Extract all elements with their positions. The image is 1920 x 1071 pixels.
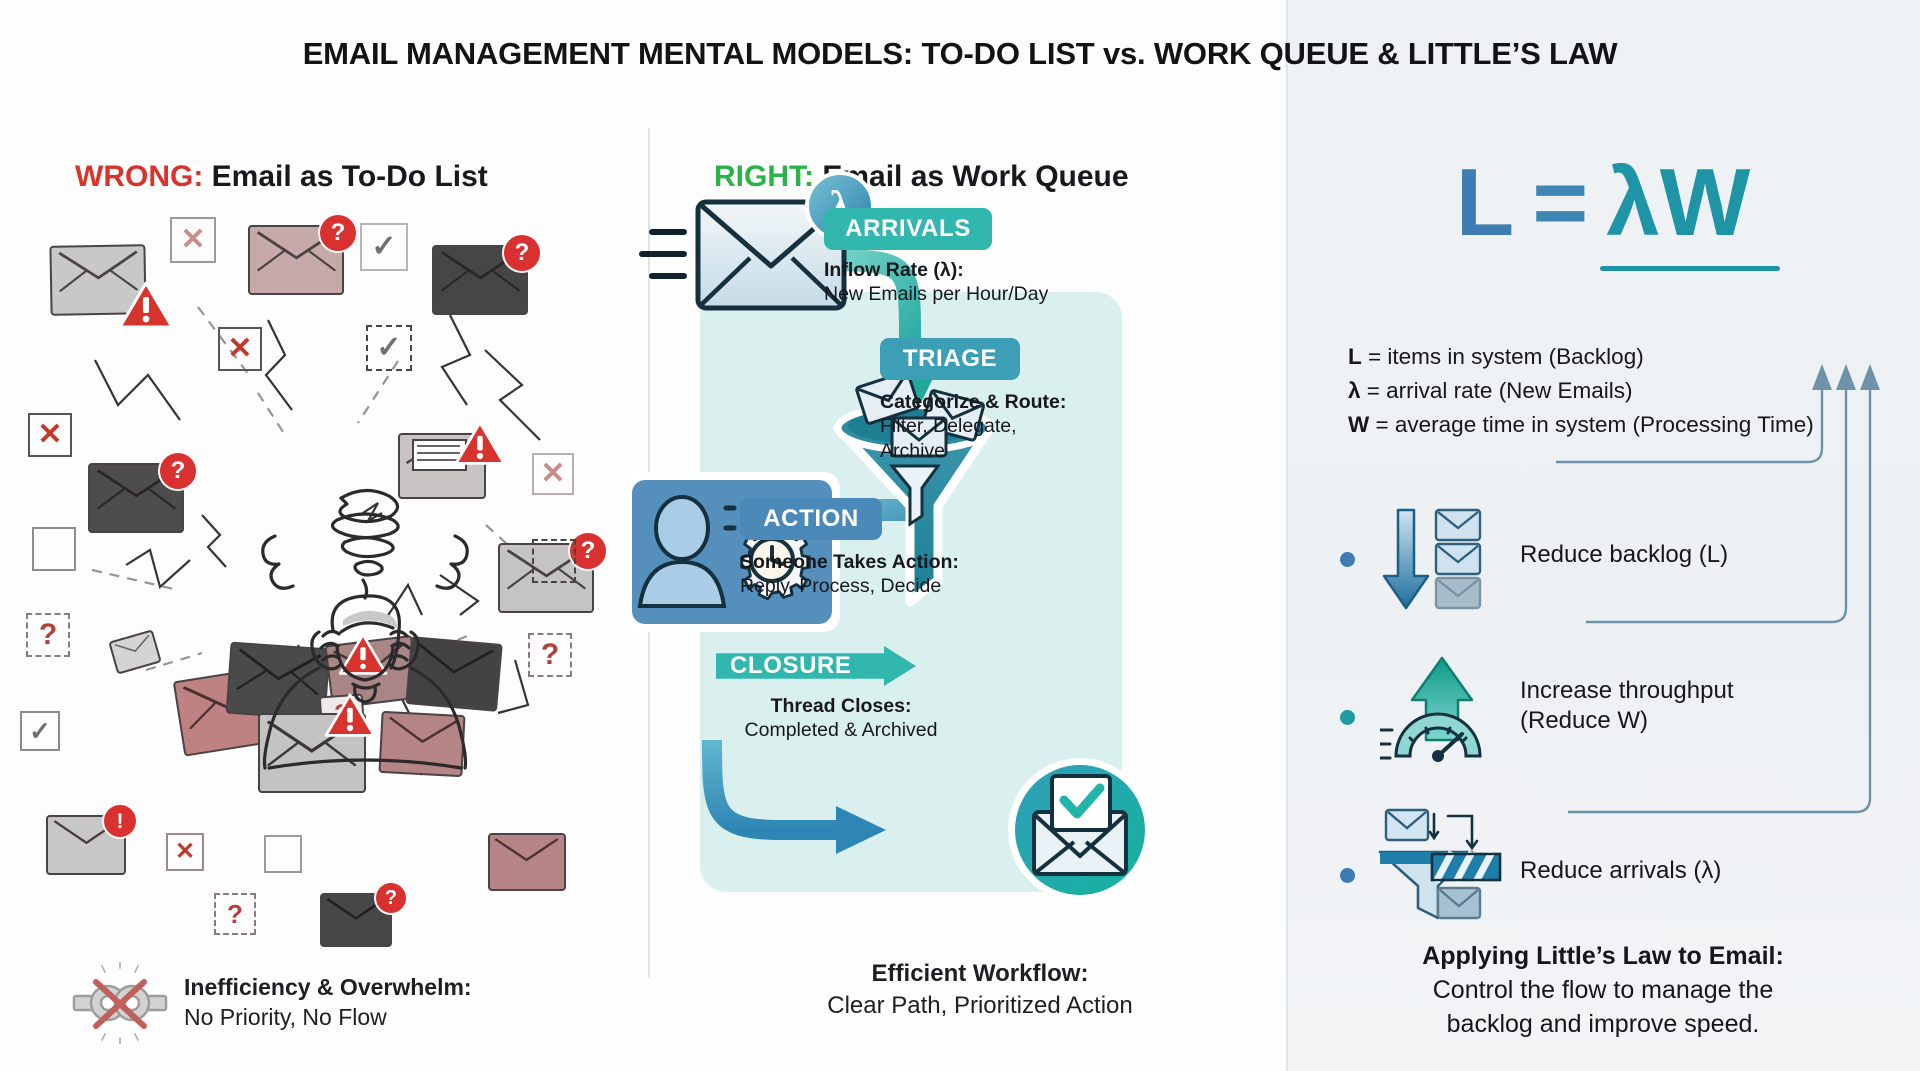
caption-action-body: Reply, Process, Decide xyxy=(740,574,1010,598)
x-checkbox: ✕ xyxy=(28,413,72,457)
tag-closure-label: CLOSURE xyxy=(730,652,852,680)
mid-panel-footer: Efficient Workflow: Clear Path, Prioriti… xyxy=(700,958,1260,1023)
left-footer-text: Inefficiency & Overwhelm: No Priority, N… xyxy=(184,973,472,1033)
caption-arrivals: Inflow Rate (λ): New Emails per Hour/Day xyxy=(824,258,1084,307)
caption-arrivals-body: New Emails per Hour/Day xyxy=(824,282,1084,306)
bullet-text-reduce-backlog: Reduce backlog (L) xyxy=(1520,540,1728,570)
bullet-line-1: Increase throughput xyxy=(1520,676,1733,706)
caption-closure: Thread Closes: Completed & Archived xyxy=(716,694,966,743)
caption-action: Someone Takes Action: Reply, Process, De… xyxy=(740,550,1010,599)
warning-triangle-icon xyxy=(118,281,174,331)
bullet-text-reduce-arrivals: Reduce arrivals (λ) xyxy=(1520,856,1721,886)
left-footer-sub: No Priority, No Flow xyxy=(184,1003,472,1033)
bullet-line-2: (Reduce W) xyxy=(1520,706,1733,736)
right-panel-footer: Applying Little’s Law to Email: Control … xyxy=(1300,940,1906,1041)
dashed-question-checkbox: ? xyxy=(528,633,572,677)
x-checkbox: ✕ xyxy=(218,327,262,371)
envelope-item xyxy=(488,833,566,891)
check-checkbox: ✓ xyxy=(360,223,408,271)
caption-triage: Categorize & Route: Filter, Delegate, Ar… xyxy=(880,390,1080,463)
caption-closure-title: Thread Closes: xyxy=(716,694,966,718)
dashed-question-checkbox: ? xyxy=(214,893,256,935)
alert-badge: ! xyxy=(102,803,138,839)
dashed-check-checkbox: ✓ xyxy=(366,325,412,371)
stressed-person-icon xyxy=(245,480,485,770)
broken-gear-cross-icon xyxy=(72,962,168,1044)
check-checkbox: ✓ xyxy=(20,711,60,751)
x-checkbox: ✕ xyxy=(170,217,216,263)
mid-footer-title: Efficient Workflow: xyxy=(700,958,1260,990)
caption-triage-body1: Filter, Delegate, xyxy=(880,414,1080,438)
x-checkbox: ✕ xyxy=(532,453,574,495)
left-panel-keyword: WRONG: xyxy=(75,160,203,193)
mid-panel-header: RIGHT: Email as Work Queue xyxy=(714,160,1129,194)
funnel-filter-envelopes-icon xyxy=(1376,808,1506,931)
dashed-empty-checkbox xyxy=(532,539,576,583)
up-arrow-gauge-icon xyxy=(1380,656,1500,773)
tag-action: ACTION xyxy=(740,498,882,540)
tag-triage: TRIAGE xyxy=(880,338,1020,380)
bullet-dot xyxy=(1340,868,1355,883)
formula-lambda-W: λW xyxy=(1606,149,1750,256)
question-badge: ? xyxy=(374,881,408,915)
x-checkbox: ✕ xyxy=(166,833,204,871)
infographic-canvas: EMAIL MANAGEMENT MENTAL MODELS: TO-DO LI… xyxy=(0,0,1920,1071)
bullet-dot xyxy=(1340,710,1355,725)
caption-triage-title: Categorize & Route: xyxy=(880,390,1080,414)
workflow-illustration: λ xyxy=(660,210,1280,910)
caption-action-title: Someone Takes Action: xyxy=(740,550,1010,574)
warning-triangle-icon xyxy=(454,421,506,467)
chaos-illustration: ? ? ? ? xyxy=(30,215,650,915)
down-arrow-envelopes-icon xyxy=(1380,506,1500,621)
bullet-dot xyxy=(1340,552,1355,567)
left-panel-header: WRONG: Email as To-Do List xyxy=(75,160,488,194)
question-badge: ? xyxy=(158,451,198,491)
right-footer-line-2: backlog and improve speed. xyxy=(1300,1008,1906,1042)
mid-footer-sub: Clear Path, Prioritized Action xyxy=(700,990,1260,1022)
dashed-question-checkbox: ? xyxy=(26,613,70,657)
right-footer-line-1: Control the flow to manage the xyxy=(1300,974,1906,1008)
empty-checkbox xyxy=(32,527,76,571)
mid-panel-keyword: RIGHT: xyxy=(714,160,814,193)
littles-law-formula: L=λW xyxy=(1286,155,1920,251)
bullet-text-increase-throughput: Increase throughput (Reduce W) xyxy=(1520,676,1733,736)
formula-equals: = xyxy=(1532,149,1588,256)
right-footer-title: Applying Little’s Law to Email: xyxy=(1300,940,1906,974)
empty-checkbox xyxy=(264,835,302,873)
question-badge: ? xyxy=(318,213,358,253)
left-panel-header-rest: Email as To-Do List xyxy=(203,160,488,193)
question-badge: ? xyxy=(502,233,542,273)
left-footer-title: Inefficiency & Overwhelm: xyxy=(184,973,472,1003)
tag-arrivals: ARRIVALS xyxy=(824,208,992,250)
page-title: EMAIL MANAGEMENT MENTAL MODELS: TO-DO LI… xyxy=(0,36,1920,72)
formula-L: L xyxy=(1456,149,1515,256)
left-panel-footer: Inefficiency & Overwhelm: No Priority, N… xyxy=(72,962,632,1044)
formula-underline xyxy=(1600,266,1780,271)
caption-arrivals-title: Inflow Rate (λ): xyxy=(824,258,1084,282)
caption-triage-body2: Archive xyxy=(880,439,1080,463)
caption-closure-body: Completed & Archived xyxy=(716,718,966,742)
